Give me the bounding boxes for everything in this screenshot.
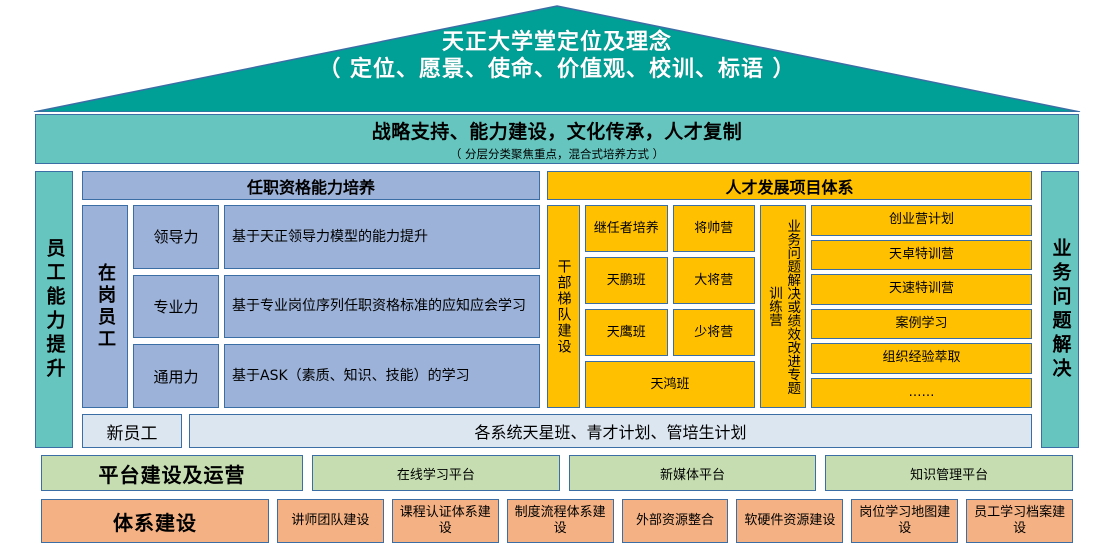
house-diagram: 天正大学堂定位及理念 （ 定位、愿景、使命、价值观、校训、标语 ） 战略支持、能… bbox=[0, 0, 1114, 551]
platform-row: 平台建设及运营 在线学习平台 新媒体平台 知识管理平台 bbox=[41, 455, 1073, 491]
panels-row: 任职资格能力培养 在岗员工 领导力 专业力 通用力 基于天正领导力模型的能力提升 bbox=[82, 171, 1032, 408]
system-row-lead: 体系建设 bbox=[41, 499, 269, 543]
talent-development-panel: 人才发展项目体系 干部梯队建设 继任者培养 将帅营 天鹏班 bbox=[547, 171, 1032, 408]
right-sidebar-label: 业务问题解决 bbox=[1051, 238, 1070, 382]
new-employee-content: 各系统天星班、青才计划、管培生计划 bbox=[189, 414, 1032, 448]
qualification-panel: 任职资格能力培养 在岗员工 领导力 专业力 通用力 基于天正领导力模型的能力提升 bbox=[82, 171, 540, 408]
platform-cell: 新媒体平台 bbox=[569, 455, 817, 491]
system-cell: 制度流程体系建设 bbox=[507, 499, 614, 543]
capability-name-column: 领导力 专业力 通用力 bbox=[133, 205, 219, 408]
program-list-column: 创业营计划 天卓特训营 天速特训营 案例学习 组织经验萃取 …… bbox=[811, 205, 1032, 408]
cadre-program-row: 天鹰班 少将营 bbox=[585, 309, 755, 356]
capability-name-cell: 通用力 bbox=[133, 344, 219, 408]
program-cell: 天速特训营 bbox=[811, 274, 1032, 305]
body-center: 任职资格能力培养 在岗员工 领导力 专业力 通用力 基于天正领导力模型的能力提升 bbox=[82, 171, 1032, 448]
house-body: 员工能力提升 任职资格能力培养 在岗员工 领导力 专业力 通用力 bbox=[35, 171, 1079, 448]
qualification-panel-title: 任职资格能力培养 bbox=[82, 171, 540, 200]
roof-title-block: 天正大学堂定位及理念 （ 定位、愿景、使命、价值观、校训、标语 ） bbox=[0, 30, 1114, 84]
system-cell: 软硬件资源建设 bbox=[736, 499, 843, 543]
capability-desc-cell: 基于ASK（素质、知识、技能）的学习 bbox=[224, 344, 540, 408]
cadre-echelon-label: 干部梯队建设 bbox=[557, 259, 571, 355]
strategy-band-sub: （ 分层分类聚焦重点，混合式培养方式 ） bbox=[450, 146, 664, 162]
cadre-program-row-wide: 天鸿班 bbox=[585, 361, 755, 408]
roof-banner: 天正大学堂定位及理念 （ 定位、愿景、使命、价值观、校训、标语 ） bbox=[0, 0, 1114, 112]
cadre-program-cell: 继任者培养 bbox=[585, 205, 668, 252]
system-cell: 讲师团队建设 bbox=[277, 499, 384, 543]
cadre-program-cell: 天鹏班 bbox=[585, 257, 668, 304]
cadre-program-row: 继任者培养 将帅营 bbox=[585, 205, 755, 252]
new-employee-label: 新员工 bbox=[82, 414, 182, 448]
strategy-band: 战略支持、能力建设，文化传承，人才复制 （ 分层分类聚焦重点，混合式培养方式 ） bbox=[35, 114, 1079, 164]
system-cell: 岗位学习地图建设 bbox=[851, 499, 958, 543]
strategy-band-main: 战略支持、能力建设，文化传承，人才复制 bbox=[372, 117, 743, 144]
platform-cell: 知识管理平台 bbox=[825, 455, 1073, 491]
platform-cell: 在线学习平台 bbox=[312, 455, 560, 491]
platform-row-lead: 平台建设及运营 bbox=[41, 455, 303, 491]
system-cell: 外部资源整合 bbox=[622, 499, 729, 543]
new-employee-row: 新员工 各系统天星班、青才计划、管培生计划 bbox=[82, 414, 1032, 448]
on-job-employee-label: 在岗员工 bbox=[96, 263, 114, 351]
cadre-echelon-box: 干部梯队建设 bbox=[547, 205, 580, 408]
program-cell: 天卓特训营 bbox=[811, 240, 1032, 271]
cadre-program-cell-wide: 天鸿班 bbox=[585, 361, 755, 408]
capability-desc-cell: 基于专业岗位序列任职资格标准的应知应会学习 bbox=[224, 275, 540, 339]
system-construction-row: 体系建设 讲师团队建设 课程认证体系建设 制度流程体系建设 外部资源整合 软硬件… bbox=[41, 499, 1073, 543]
roof-title-line2: （ 定位、愿景、使命、价值观、校训、标语 ） bbox=[0, 57, 1114, 84]
capability-name-cell: 专业力 bbox=[133, 275, 219, 339]
roof-title-line1: 天正大学堂定位及理念 bbox=[0, 30, 1114, 57]
program-cell: 组织经验萃取 bbox=[811, 343, 1032, 374]
left-sidebar-label: 员工能力提升 bbox=[45, 238, 64, 382]
capability-desc-cell: 基于天正领导力模型的能力提升 bbox=[224, 205, 540, 269]
talent-development-panel-title: 人才发展项目体系 bbox=[547, 171, 1032, 200]
on-job-employee-box: 在岗员工 bbox=[82, 205, 128, 408]
right-sidebar-business-problem: 业务问题解决 bbox=[1041, 171, 1079, 448]
cadre-program-cell: 少将营 bbox=[673, 309, 756, 356]
program-cell: 创业营计划 bbox=[811, 205, 1032, 236]
talent-development-panel-body: 干部梯队建设 继任者培养 将帅营 天鹏班 大将营 bbox=[547, 205, 1032, 408]
cadre-program-cell: 天鹰班 bbox=[585, 309, 668, 356]
capability-desc-column: 基于天正领导力模型的能力提升 基于专业岗位序列任职资格标准的应知应会学习 基于A… bbox=[224, 205, 540, 408]
cadre-program-cell: 大将营 bbox=[673, 257, 756, 304]
program-cell-ellipsis: …… bbox=[811, 378, 1032, 409]
system-cell: 课程认证体系建设 bbox=[392, 499, 499, 543]
cadre-program-row: 天鹏班 大将营 bbox=[585, 257, 755, 304]
cadre-program-grid: 继任者培养 将帅营 天鹏班 大将营 天鹰班 少将营 bbox=[585, 205, 755, 408]
business-problem-training-label: 业务问题解决或绩效改进专题训练营 bbox=[765, 218, 801, 396]
program-cell: 案例学习 bbox=[811, 309, 1032, 340]
qualification-panel-body: 在岗员工 领导力 专业力 通用力 基于天正领导力模型的能力提升 基于专业岗位序列… bbox=[82, 205, 540, 408]
left-sidebar-employee-capability: 员工能力提升 bbox=[35, 171, 73, 448]
business-problem-training-box: 业务问题解决或绩效改进专题训练营 bbox=[760, 205, 806, 408]
system-cell: 员工学习档案建设 bbox=[966, 499, 1073, 543]
cadre-program-cell: 将帅营 bbox=[673, 205, 756, 252]
capability-name-cell: 领导力 bbox=[133, 205, 219, 269]
